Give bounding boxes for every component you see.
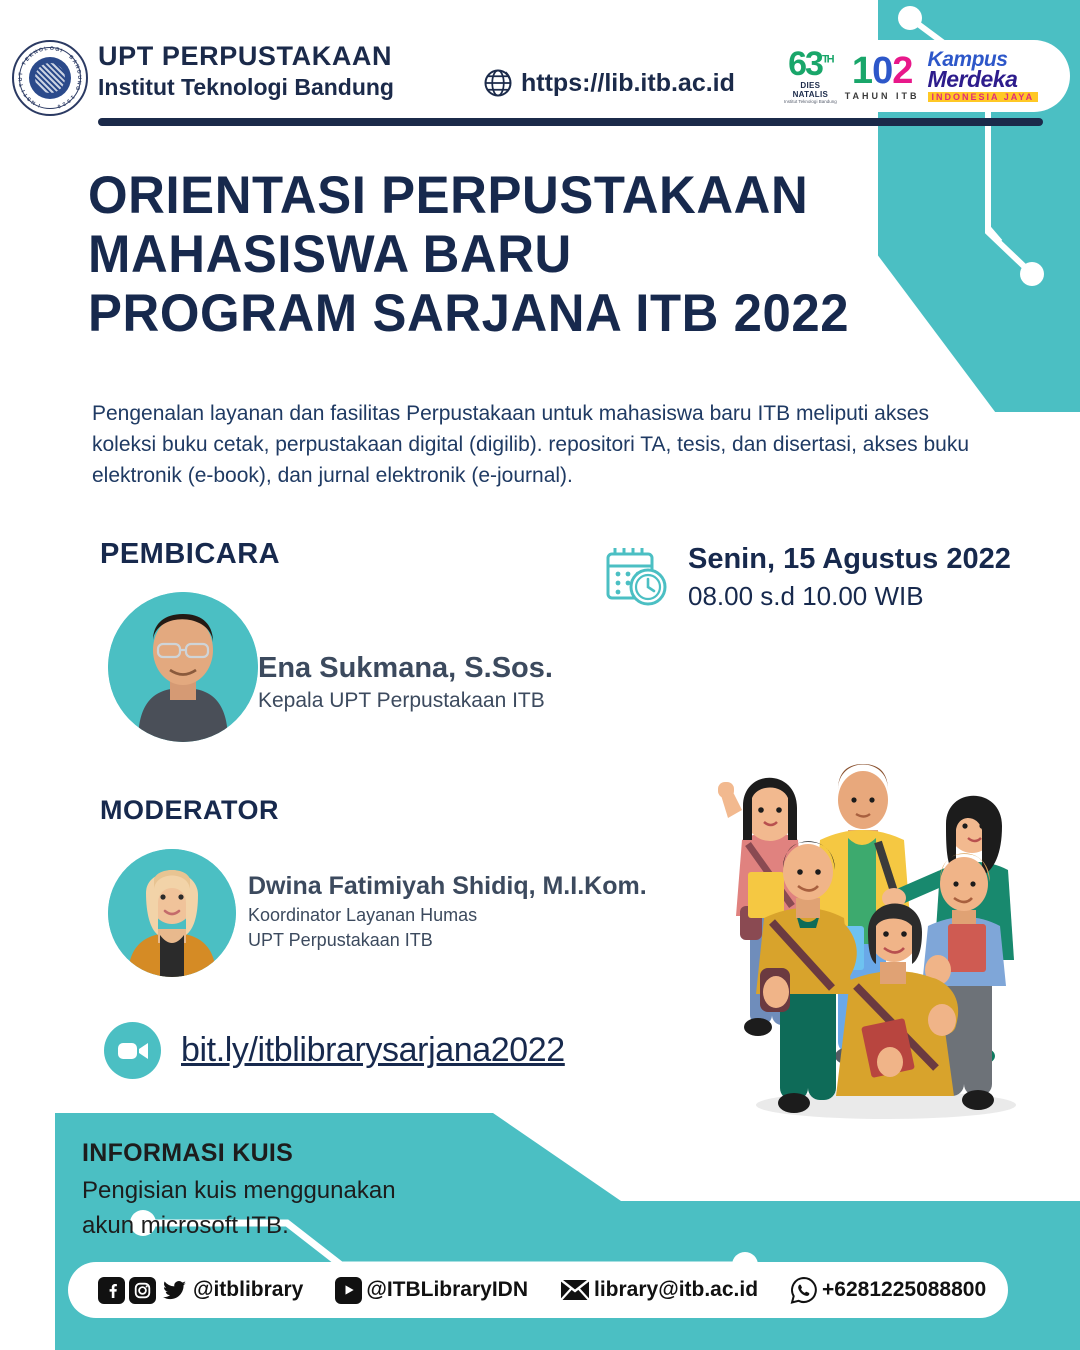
contact-whatsapp[interactable]: +6281225088800 bbox=[790, 1276, 986, 1304]
itb-seal-logo: INSTITUT TEKNOLOGI BANDUNG 1920 bbox=[12, 40, 88, 116]
contact-label-email: library@itb.ac.id bbox=[594, 1278, 758, 1302]
quiz-heading: INFORMASI KUIS bbox=[82, 1133, 396, 1173]
anniversary-badges: 63TH DIES NATALIS Institut Teknologi Ban… bbox=[770, 40, 1070, 112]
kampus-merdeka-badge: Kampus Merdeka INDONESIA JAYA bbox=[928, 50, 1039, 103]
event-description: Pengenalan layanan dan fasilitas Perpust… bbox=[92, 398, 972, 491]
whatsapp-icon[interactable] bbox=[790, 1276, 818, 1304]
dies-line-1: DIES bbox=[800, 82, 820, 90]
poster-header: INSTITUT TEKNOLOGI BANDUNG 1920 UPT PERP… bbox=[0, 0, 1080, 128]
moderator-name: Dwina Fatimiyah Shidiq, M.I.Kom. bbox=[248, 870, 647, 903]
moderator-details: Dwina Fatimiyah Shidiq, M.I.Kom. Koordin… bbox=[248, 870, 647, 953]
contact-social-handles[interactable]: @itblibrary bbox=[98, 1277, 303, 1304]
schedule-date: Senin, 15 Agustus 2022 bbox=[688, 540, 1011, 578]
dies-number: 63TH bbox=[788, 47, 833, 81]
tahun-number: 102 bbox=[852, 52, 912, 90]
speaker-name: Ena Sukmana, S.Sos. bbox=[258, 650, 553, 686]
youtube-icon[interactable] bbox=[335, 1277, 362, 1304]
video-camera-icon bbox=[104, 1022, 161, 1079]
moderator-avatar bbox=[108, 849, 236, 977]
globe-icon bbox=[483, 68, 513, 98]
moderator-role-line-2: UPT Perpustakaan ITB bbox=[248, 928, 647, 953]
speaker-details: Ena Sukmana, S.Sos. Kepala UPT Perpustak… bbox=[258, 650, 553, 716]
speaker-role: Kepala UPT Perpustakaan ITB bbox=[258, 686, 553, 716]
page-title: ORIENTASI PERPUSTAKAAN MAHASISWA BARU PR… bbox=[88, 166, 856, 343]
moderator-section-label: MODERATOR bbox=[100, 795, 279, 826]
seal-ring-text: INSTITUT TEKNOLOGI BANDUNG 1920 bbox=[14, 42, 86, 114]
organization-name: UPT PERPUSTAKAAN Institut Teknologi Band… bbox=[98, 40, 394, 102]
footer-contact-bar: @itblibrary @ITBLibraryIDN library@itb.a… bbox=[68, 1262, 1008, 1318]
website-url-text: https://lib.itb.ac.id bbox=[521, 69, 735, 98]
schedule-block: Senin, 15 Agustus 2022 08.00 s.d 10.00 W… bbox=[600, 540, 1011, 614]
contact-email[interactable]: library@itb.ac.id bbox=[560, 1278, 758, 1302]
calendar-clock-icon bbox=[600, 540, 672, 612]
instagram-icon[interactable] bbox=[129, 1277, 156, 1304]
contact-label-whatsapp: +6281225088800 bbox=[822, 1278, 986, 1302]
org-line-2: Institut Teknologi Bandung bbox=[98, 72, 394, 102]
facebook-icon[interactable] bbox=[98, 1277, 125, 1304]
tahun-itb-badge: 102 TAHUN ITB bbox=[845, 52, 920, 101]
contact-label-social: @itblibrary bbox=[193, 1278, 303, 1302]
contact-label-youtube: @ITBLibraryIDN bbox=[366, 1278, 528, 1302]
twitter-icon[interactable] bbox=[160, 1278, 189, 1303]
dies-line-3: Institut Teknologi Bandung bbox=[784, 100, 837, 105]
quiz-line-1: Pengisian kuis menggunakan bbox=[82, 1173, 396, 1208]
quiz-info-block: INFORMASI KUIS Pengisian kuis menggunaka… bbox=[82, 1133, 396, 1243]
contact-youtube[interactable]: @ITBLibraryIDN bbox=[335, 1277, 528, 1304]
quiz-line-2: akun microsoft ITB. bbox=[82, 1208, 396, 1243]
org-line-1: UPT PERPUSTAKAAN bbox=[98, 40, 394, 72]
header-divider bbox=[98, 118, 1043, 126]
email-icon[interactable] bbox=[560, 1278, 590, 1302]
dies-line-2: NATALIS bbox=[793, 91, 829, 99]
meeting-link-text[interactable]: bit.ly/itblibrarysarjana2022 bbox=[181, 1031, 565, 1070]
students-group-illustration bbox=[690, 720, 1070, 1120]
dies-natalis-badge: 63TH DIES NATALIS Institut Teknologi Ban… bbox=[784, 47, 837, 105]
poster-canvas: INSTITUT TEKNOLOGI BANDUNG 1920 UPT PERP… bbox=[0, 0, 1080, 1350]
speaker-section-label: PEMBICARA bbox=[100, 538, 280, 571]
website-url[interactable]: https://lib.itb.ac.id bbox=[483, 68, 735, 98]
speaker-avatar bbox=[108, 592, 258, 742]
schedule-time: 08.00 s.d 10.00 WIB bbox=[688, 578, 1011, 614]
meeting-link-row[interactable]: bit.ly/itblibrarysarjana2022 bbox=[104, 1022, 565, 1079]
km-line-2: Merdeka bbox=[928, 69, 1039, 90]
tahun-caption: TAHUN ITB bbox=[845, 92, 920, 101]
moderator-role-line-1: Koordinator Layanan Humas bbox=[248, 903, 647, 928]
km-line-3: INDONESIA JAYA bbox=[928, 92, 1039, 102]
